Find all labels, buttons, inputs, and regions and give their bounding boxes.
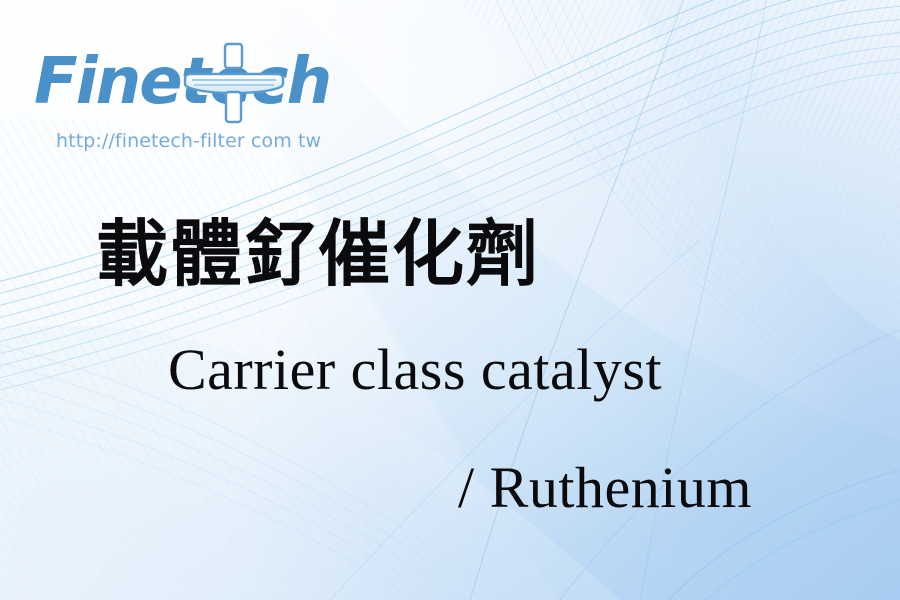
product-title-english-line2: / Ruthenium	[0, 458, 900, 519]
syringe-filter-icon	[182, 42, 286, 126]
logo-url-text: http://finetech-filter com tw	[56, 130, 321, 152]
brand-logo[interactable]: Finetech http://finetech-filter com tw	[34, 22, 334, 144]
background-hatch-top	[300, 0, 900, 150]
product-title-chinese: 載體釕催化劑	[0, 218, 900, 290]
product-title-english-line1: Carrier class catalyst	[0, 340, 900, 401]
product-banner: Finetech http://finetech-filter com tw 載…	[0, 0, 900, 600]
